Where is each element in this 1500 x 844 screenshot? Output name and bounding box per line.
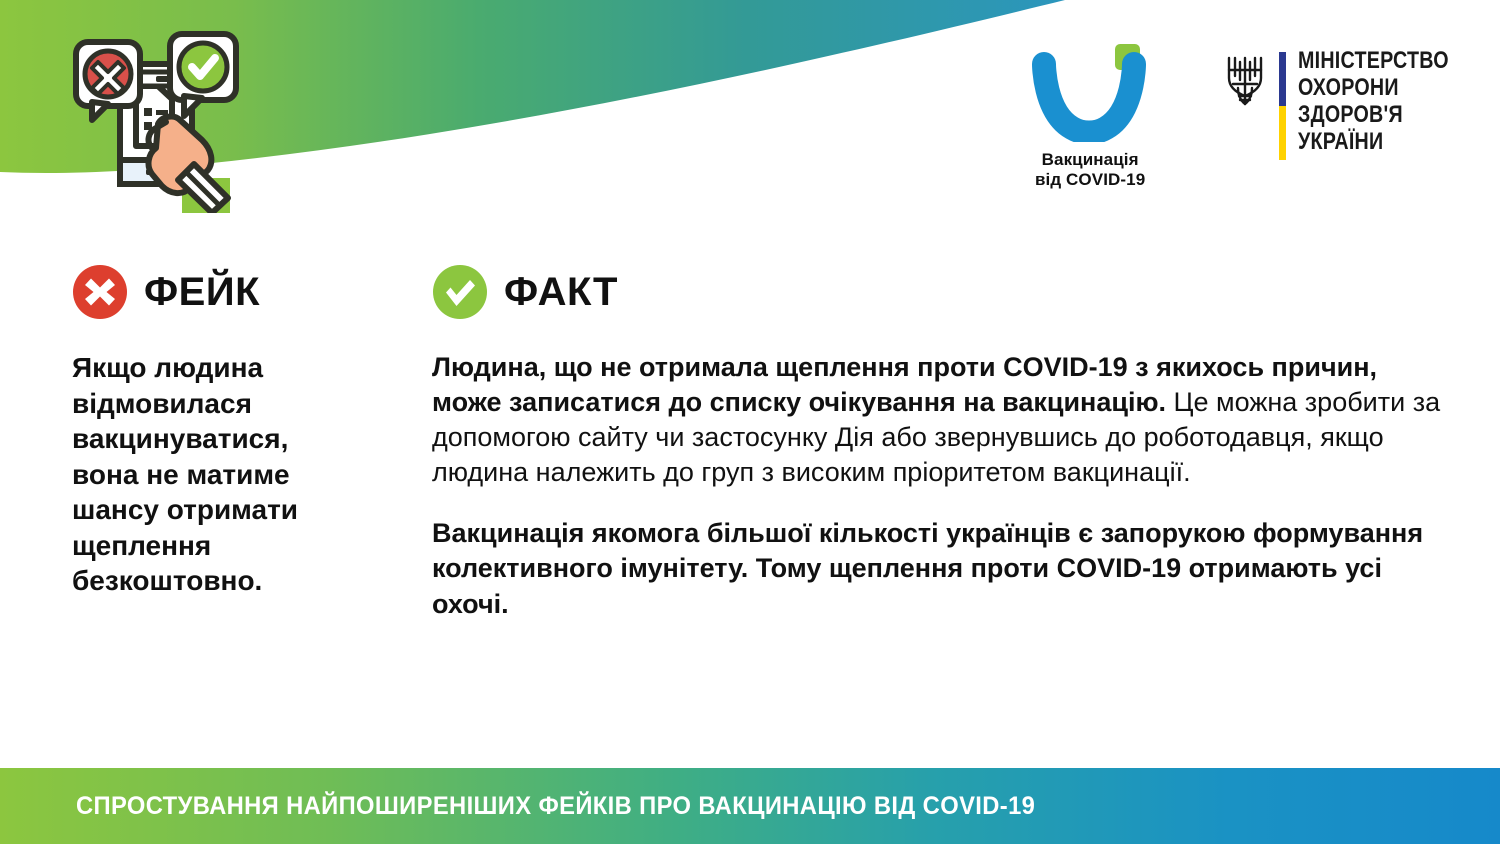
ministry-logo-line-1: МІНІСТЕРСТВО [1298, 48, 1449, 75]
fake-column-body: Якщо людина відмовилася вакцинуватися, в… [72, 350, 352, 599]
fact-column-body: Людина, що не отримала щеплення проти CO… [432, 350, 1442, 622]
vaccination-v-logo-icon [1030, 42, 1150, 142]
fake-column-title: ФЕЙК [144, 272, 260, 312]
fact-column-title: ФАКТ [504, 272, 618, 312]
header-illustration [62, 28, 272, 213]
vaccination-logo-line1: Вакцинація [1035, 150, 1145, 170]
logo-block: Вакцинація від COVID-19 [1005, 42, 1482, 191]
fact-paragraph-lead: Вакцинація якомога більшої кількості укр… [432, 518, 1423, 618]
cross-circle-icon [72, 264, 128, 320]
fake-column: ФЕЙК Якщо людина відмовилася вакцинувати… [72, 262, 402, 599]
check-circle-icon [432, 264, 488, 320]
ministry-logo-line-2: ОХОРОНИ [1298, 75, 1449, 102]
fake-column-header: ФЕЙК [72, 262, 402, 322]
ministry-logo-line-3: ЗДОРОВ'Я [1298, 102, 1449, 129]
fact-paragraph: Вакцинація якомога більшої кількості укр… [432, 516, 1442, 621]
ministry-logo-text: МІНІСТЕРСТВО ОХОРОНИ ЗДОРОВ'Я УКРАЇНИ [1298, 48, 1449, 156]
vaccination-logo: Вакцинація від COVID-19 [1005, 42, 1175, 191]
ministry-logo-line-4: УКРАЇНИ [1298, 129, 1449, 156]
ministry-of-health-logo: МІНІСТЕРСТВО ОХОРОНИ ЗДОРОВ'Я УКРАЇНИ [1223, 42, 1482, 160]
footer-banner: СПРОСТУВАННЯ НАЙПОШИРЕНІШИХ ФЕЙКІВ ПРО В… [0, 768, 1500, 844]
fact-paragraph: Людина, що не отримала щеплення проти CO… [432, 350, 1442, 490]
vaccination-logo-text: Вакцинація від COVID-19 [1035, 150, 1145, 191]
slide-root: Вакцинація від COVID-19 [0, 0, 1500, 844]
footer-banner-text: СПРОСТУВАННЯ НАЙПОШИРЕНІШИХ ФЕЙКІВ ПРО В… [76, 792, 1035, 821]
ministry-logo-flag-rule [1279, 52, 1286, 160]
fact-column-header: ФАКТ [432, 262, 1442, 322]
fact-column: ФАКТ Людина, що не отримала щеплення про… [432, 262, 1442, 622]
vaccination-logo-line2: від COVID-19 [1035, 170, 1145, 190]
ukraine-tryzub-icon [1223, 52, 1267, 110]
